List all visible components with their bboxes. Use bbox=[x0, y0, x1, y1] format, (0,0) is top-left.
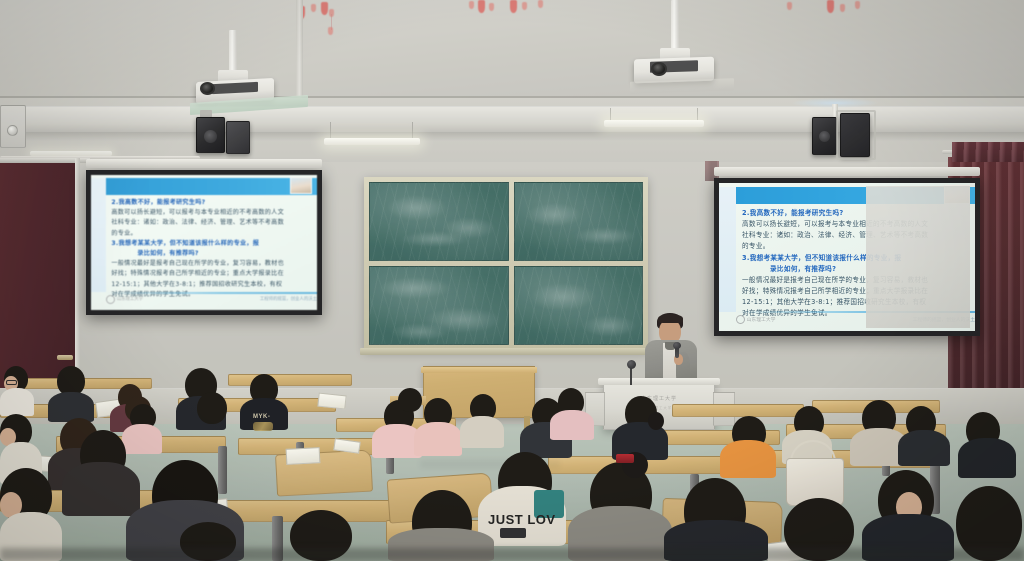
slide-banner-thumbnail bbox=[290, 177, 313, 194]
chalkboard-panel bbox=[369, 266, 509, 345]
desk-microphone-head bbox=[627, 360, 636, 369]
speaker-cone bbox=[204, 130, 217, 143]
left-slide: 2.我高数不好，能报考研究生吗? 高数可以扬长避短，可以报考与本专业相近的不考高… bbox=[91, 175, 317, 310]
ceiling-decoration bbox=[510, 0, 517, 13]
university-seal-icon bbox=[106, 295, 115, 304]
door-handle-left[interactable] bbox=[57, 355, 73, 360]
wall-speaker-left-b bbox=[226, 121, 250, 154]
ceiling-decoration bbox=[478, 0, 485, 13]
jacket-text-just-love: JUST LOV bbox=[488, 512, 556, 527]
ceiling-decoration bbox=[787, 2, 792, 10]
speaker-cone bbox=[819, 131, 830, 142]
door-post-left bbox=[75, 158, 80, 393]
notebook bbox=[317, 393, 346, 410]
audience-torso bbox=[62, 462, 140, 516]
slide-line: 的专业。 bbox=[111, 229, 308, 239]
audience-torso bbox=[414, 422, 462, 456]
projector-lens-left bbox=[200, 82, 215, 95]
lectern-top bbox=[598, 378, 720, 385]
chalk-dust bbox=[581, 315, 637, 337]
ceiling-decoration bbox=[538, 0, 543, 8]
bench-desk bbox=[672, 404, 804, 417]
speaker-mount-plate-right bbox=[836, 110, 876, 160]
slide-footer-left: 山东理工大学 工程师的摇篮，创业人的沃土 bbox=[106, 294, 317, 305]
ceiling bbox=[0, 0, 1024, 100]
university-seal-icon bbox=[736, 315, 745, 324]
ceiling-decoration bbox=[840, 4, 845, 12]
audience-torso bbox=[0, 388, 34, 416]
notebook bbox=[286, 447, 321, 465]
bench-frame bbox=[218, 446, 227, 494]
curtain-valance-right bbox=[952, 142, 1024, 162]
slide-line: 12-15:1；其他大学在3-8:1；推荐国招收研究生本校，有权 bbox=[111, 280, 308, 290]
chalk-dust bbox=[400, 231, 470, 247]
audience-torso bbox=[48, 392, 94, 422]
slide-line: 社科专业：诸如：政治、法律、经济、管理、艺术等不考高数 bbox=[111, 218, 308, 228]
desk-shadow bbox=[0, 548, 1024, 561]
slide-line: 录比如何，有推荐吗? bbox=[111, 249, 308, 259]
audience-torso bbox=[720, 440, 776, 478]
screen-glare-right bbox=[866, 186, 970, 328]
ceiling-decoration bbox=[469, 1, 474, 9]
slide-logo-text: 山东理工大学 bbox=[747, 316, 776, 323]
ceiling-decoration bbox=[522, 2, 527, 10]
screen-roller-right bbox=[714, 167, 980, 176]
ceiling-decoration bbox=[328, 27, 333, 35]
slide-logo: 山东理工大学 bbox=[106, 295, 143, 304]
desk-shadow bbox=[420, 460, 560, 468]
slide-side-band bbox=[91, 178, 106, 292]
presenter-hair-fringe bbox=[658, 314, 683, 323]
chalkboard bbox=[364, 177, 648, 350]
desk-top bbox=[421, 367, 537, 373]
fluorescent-fixture-center bbox=[604, 120, 704, 127]
hair-clip bbox=[616, 454, 634, 463]
ceiling-pilaster bbox=[296, 0, 303, 98]
chalk-dust bbox=[390, 323, 450, 341]
jacket-emblem bbox=[253, 422, 273, 431]
slide-body-left: 2.我高数不好，能报考研究生吗? 高数可以扬长避短，可以报考与本专业相近的不考高… bbox=[111, 198, 308, 291]
audience-torso bbox=[550, 410, 594, 440]
microphone-head-icon bbox=[673, 342, 681, 349]
audience-head bbox=[398, 388, 422, 412]
slide-line: 3.我想考某某大学，但不知道该报什么样的专业，报 bbox=[111, 239, 308, 249]
chalk-dust bbox=[529, 283, 597, 311]
audience-torso bbox=[898, 430, 950, 466]
ceiling-decoration bbox=[489, 3, 494, 11]
chalk-dust bbox=[573, 227, 637, 245]
wall-knob-left[interactable] bbox=[7, 125, 18, 136]
chalk-dust bbox=[386, 195, 448, 221]
slide-line: 高数可以扬长避短，可以报考与本专业相近的不考高数的人文 bbox=[111, 208, 308, 218]
audience-head bbox=[197, 392, 227, 424]
hair-bun bbox=[648, 412, 664, 430]
slide-logo: 山东理工大学 bbox=[736, 315, 776, 324]
chalkboard-panel bbox=[369, 182, 509, 261]
audience-torso bbox=[460, 416, 504, 448]
ceiling-decoration bbox=[311, 4, 316, 12]
ceiling-decoration bbox=[321, 2, 328, 15]
bench-desk bbox=[228, 374, 352, 386]
chalkboard-panel bbox=[514, 182, 643, 261]
slide-line: 2.我高数不好，能报考研究生吗? bbox=[111, 198, 308, 208]
jacket-text-myk: MYK- bbox=[253, 414, 270, 420]
left-projection-screen: 2.我高数不好，能报考研究生吗? 高数可以扬长避短，可以报考与本专业相近的不考高… bbox=[86, 170, 322, 315]
slide-line: 一般情况最好是报考自己现在所学的专业，复习容易，教材也 bbox=[111, 259, 308, 269]
slide-footer-note: 工程师的摇篮，创业人的沃土 bbox=[260, 296, 317, 302]
audience-torso bbox=[122, 424, 162, 454]
audience-torso bbox=[958, 438, 1016, 478]
chalkboard-panel bbox=[514, 266, 643, 345]
chalk-dust bbox=[525, 203, 583, 227]
slide-logo-text: 山东理工大学 bbox=[117, 296, 143, 302]
ceiling-decoration bbox=[827, 0, 834, 13]
slide-side-band bbox=[719, 187, 736, 312]
screen-roller-left bbox=[86, 159, 322, 168]
chalk-tray bbox=[360, 348, 652, 355]
fluorescent-fixture-left bbox=[324, 138, 420, 145]
jacket-logo-patch bbox=[500, 528, 526, 538]
slide-line: 好找；特殊情况报考自己所学相近的专业；重点大学报录比在 bbox=[111, 269, 308, 279]
ceiling-decoration bbox=[855, 1, 860, 9]
projector-lens-right bbox=[651, 62, 667, 76]
chalk-dust bbox=[378, 277, 452, 299]
slide-banner bbox=[106, 178, 317, 194]
lecture-hall-photo: 2.我高数不好，能报考研究生吗? 高数可以扬长避短，可以报考与本专业相近的不考高… bbox=[0, 0, 1024, 561]
eyeglasses bbox=[6, 380, 17, 385]
